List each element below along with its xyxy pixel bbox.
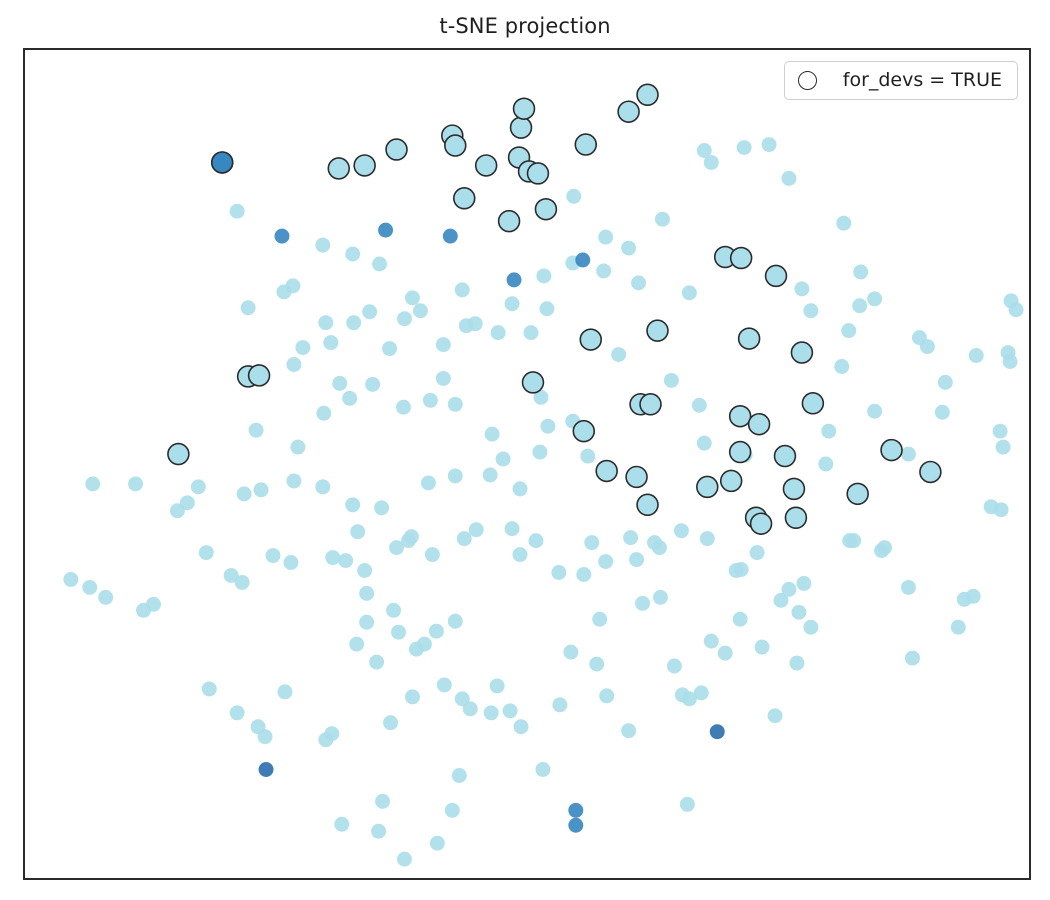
- scatter-point: [328, 158, 349, 179]
- scatter-point: [485, 427, 500, 442]
- scatter-point: [277, 684, 292, 699]
- scatter-point: [290, 440, 305, 455]
- scatter-point: [718, 646, 733, 661]
- scatter-point: [996, 440, 1011, 455]
- scatter-point: [469, 522, 484, 537]
- scatter-point: [697, 476, 718, 497]
- scatter-point: [969, 348, 984, 363]
- scatter-point: [697, 436, 712, 451]
- scatter-point: [599, 688, 614, 703]
- scatter-point: [796, 576, 811, 591]
- scatter-point: [484, 705, 499, 720]
- scatter-point: [338, 553, 353, 568]
- scatter-point: [647, 535, 662, 550]
- scatter-point: [503, 703, 518, 718]
- scatter-point: [637, 494, 658, 515]
- scatter-point: [653, 590, 668, 605]
- scatter-point: [682, 285, 697, 300]
- scatter-point: [397, 311, 412, 326]
- scatter-point: [527, 163, 548, 184]
- scatter-point: [524, 325, 539, 340]
- scatter-point: [374, 500, 389, 515]
- scatter-point: [382, 341, 397, 356]
- scatter-point: [496, 452, 511, 467]
- scatter-point: [598, 230, 613, 245]
- scatter-point: [401, 533, 416, 548]
- scatter-point: [455, 282, 470, 297]
- scatter-point: [535, 762, 550, 777]
- scatter-point: [202, 681, 217, 696]
- scatter-point: [551, 565, 566, 580]
- scatter-point: [405, 290, 420, 305]
- scatter-point: [168, 444, 189, 465]
- scatter-point: [436, 371, 451, 386]
- scatter-point: [901, 580, 916, 595]
- scatter-point: [584, 535, 599, 550]
- scatter-point: [751, 513, 772, 534]
- scatter-point: [781, 171, 796, 186]
- scatter-point: [505, 296, 520, 311]
- scatter-point: [580, 449, 595, 464]
- scatter-point: [920, 462, 941, 483]
- scatter-point: [791, 342, 812, 363]
- scatter-point: [846, 533, 861, 548]
- scatter-point: [637, 84, 658, 105]
- scatter-point: [847, 483, 868, 504]
- scatter-point: [82, 580, 97, 595]
- scatter-point: [286, 357, 301, 372]
- scatter-point: [596, 461, 617, 482]
- scatter-point: [425, 547, 440, 562]
- scatter-point: [901, 447, 916, 462]
- scatter-point: [532, 445, 547, 460]
- scatter-point: [359, 586, 374, 601]
- scatter-point: [818, 457, 833, 472]
- scatter-point: [528, 533, 543, 548]
- scatter-point: [655, 212, 670, 227]
- scatter-point: [448, 397, 463, 412]
- scatter-point: [881, 440, 902, 461]
- scatter-point: [315, 238, 330, 253]
- scatter-point: [674, 523, 689, 538]
- scatter-point: [445, 135, 466, 156]
- scatter-point: [170, 503, 185, 518]
- scatter-point: [611, 347, 626, 362]
- scatter-point: [867, 291, 882, 306]
- scatter-point: [249, 423, 264, 438]
- scatter-point: [365, 377, 380, 392]
- scatter-point: [755, 640, 770, 655]
- scatter-point: [775, 446, 796, 467]
- scatter-point: [369, 655, 384, 670]
- scatter-series: [63, 137, 1023, 866]
- scatter-point: [766, 265, 787, 286]
- scatter-point: [704, 634, 719, 649]
- scatter-point: [647, 320, 668, 341]
- scatter-point: [935, 405, 950, 420]
- scatter-point: [905, 651, 920, 666]
- scatter-point: [623, 530, 638, 545]
- scatter-point: [285, 278, 300, 293]
- scatter-point: [454, 188, 475, 209]
- scatter-point: [589, 657, 604, 672]
- scatter-point: [635, 596, 650, 611]
- scatter-point: [710, 724, 725, 739]
- scatter-point: [938, 375, 953, 390]
- scatter-point: [774, 593, 789, 608]
- scatter-point: [241, 300, 256, 315]
- scatter-point: [346, 315, 361, 330]
- scatter-point: [729, 563, 744, 578]
- scatter-point: [490, 678, 505, 693]
- scatter-point: [700, 531, 715, 546]
- scatter-point: [199, 545, 214, 560]
- scatter-point: [350, 524, 365, 539]
- scatter-point: [867, 404, 882, 419]
- scatter-point: [631, 275, 646, 290]
- scatter-point: [629, 552, 644, 567]
- scatter-point: [750, 545, 765, 560]
- scatter-series: [212, 152, 233, 173]
- scatter-point: [513, 481, 528, 496]
- scatter-point: [323, 335, 338, 350]
- scatter-point: [98, 590, 113, 605]
- scatter-point: [235, 575, 250, 590]
- scatter-point: [621, 241, 636, 256]
- scatter-point: [1009, 302, 1024, 317]
- scatter-point: [483, 467, 498, 482]
- scatter-point: [802, 393, 823, 414]
- scatter-point: [576, 567, 591, 582]
- scatter-point: [836, 216, 851, 231]
- scatter-point: [966, 589, 981, 604]
- scatter-point: [378, 223, 393, 238]
- scatter-point: [794, 281, 809, 296]
- scatter-point: [318, 315, 333, 330]
- scatter-point: [345, 497, 360, 512]
- scatter-point: [505, 521, 520, 536]
- scatter-point: [523, 372, 544, 393]
- scatter-point: [803, 620, 818, 635]
- scatter-point: [731, 248, 752, 269]
- scatter-point: [749, 414, 770, 435]
- scatter-point: [476, 155, 497, 176]
- scatter-point: [437, 677, 452, 692]
- scatter-point: [249, 365, 270, 386]
- scatter-point: [573, 421, 594, 442]
- scatter-point: [463, 701, 478, 716]
- scatter-point: [372, 257, 387, 272]
- plot-area[interactable]: for_devs = TRUE: [23, 48, 1031, 880]
- scatter-point: [491, 325, 506, 340]
- scatter-point: [535, 199, 556, 220]
- scatter-point: [694, 685, 709, 700]
- scatter-point: [448, 468, 463, 483]
- scatter-point: [396, 400, 411, 415]
- scatter-point: [568, 803, 583, 818]
- scatter-point: [230, 705, 245, 720]
- scatter-point: [739, 328, 760, 349]
- scatter-point: [566, 189, 581, 204]
- scatter-point: [357, 563, 372, 578]
- scatter-point: [536, 268, 551, 283]
- scatter-point: [853, 264, 868, 279]
- scatter-point: [621, 723, 636, 738]
- scatter-point: [452, 768, 467, 783]
- scatter-point: [511, 117, 532, 138]
- scatter-point: [575, 253, 590, 268]
- scatter-point: [212, 152, 233, 173]
- scatter-point: [692, 398, 707, 413]
- scatter-point: [266, 548, 281, 563]
- figure-canvas: t-SNE projection for_devs = TRUE: [0, 0, 1050, 900]
- scatter-point: [362, 304, 377, 319]
- scatter-point: [345, 247, 360, 262]
- scatter-point: [316, 406, 331, 421]
- scatter-point: [791, 605, 806, 620]
- scatter-point: [286, 473, 301, 488]
- scatter-point: [386, 139, 407, 160]
- scatter-point: [552, 697, 567, 712]
- scatter-point: [877, 540, 892, 555]
- scatter-point: [592, 612, 607, 627]
- scatter-point: [852, 298, 867, 313]
- scatter-point: [258, 729, 273, 744]
- scatter-point: [359, 615, 374, 630]
- scatter-point: [386, 603, 401, 618]
- scatter-point: [468, 316, 483, 331]
- scatter-point: [507, 272, 522, 287]
- scatter-point: [334, 817, 349, 832]
- page-title: t-SNE projection: [0, 14, 1050, 38]
- scatter-point: [737, 140, 752, 155]
- scatter-point: [383, 715, 398, 730]
- scatter-point: [430, 836, 445, 851]
- scatter-point: [575, 134, 596, 155]
- legend-entry-label: for_devs = TRUE: [843, 71, 1002, 90]
- scatter-point: [283, 555, 298, 570]
- scatter-point: [762, 137, 777, 152]
- scatter-point: [730, 442, 751, 463]
- scatter-point: [295, 340, 310, 355]
- scatter-point: [514, 719, 529, 734]
- scatter-point: [325, 550, 340, 565]
- scatter-point: [730, 406, 751, 427]
- scatter-point: [254, 482, 269, 497]
- scatter-point: [259, 762, 274, 777]
- scatter-point: [841, 323, 856, 338]
- scatter-point: [421, 475, 436, 490]
- scatter-point: [436, 337, 451, 352]
- scatter-point: [539, 301, 554, 316]
- scatter-point: [733, 612, 748, 627]
- scatter-point: [618, 101, 639, 122]
- scatter-point: [429, 624, 444, 639]
- scatter-point: [315, 479, 330, 494]
- scatter-point: [993, 424, 1008, 439]
- scatter-point: [721, 470, 742, 491]
- scatter-points-layer: [25, 50, 1029, 878]
- scatter-point: [951, 620, 966, 635]
- scatter-point: [349, 637, 364, 652]
- scatter-point: [499, 211, 520, 232]
- scatter-point: [146, 597, 161, 612]
- scatter-point: [680, 797, 695, 812]
- scatter-point: [994, 502, 1009, 517]
- scatter-point: [230, 204, 245, 219]
- scatter-point: [803, 303, 818, 318]
- scatter-point: [513, 547, 528, 562]
- scatter-point: [332, 376, 347, 391]
- scatter-point: [640, 394, 661, 415]
- scatter-point: [626, 466, 647, 487]
- scatter-point: [423, 393, 438, 408]
- scatter-point: [834, 359, 849, 374]
- scatter-point: [704, 155, 719, 170]
- scatter-point: [598, 554, 613, 569]
- scatter-point: [664, 373, 679, 388]
- scatter-point: [580, 329, 601, 350]
- scatter-point: [514, 98, 535, 119]
- circle-open-icon: [798, 71, 817, 90]
- scatter-point: [596, 263, 611, 278]
- scatter-point: [371, 824, 386, 839]
- scatter-point: [667, 659, 682, 674]
- legend[interactable]: for_devs = TRUE: [784, 61, 1018, 100]
- scatter-point: [354, 155, 375, 176]
- scatter-point: [375, 794, 390, 809]
- scatter-point: [785, 507, 806, 528]
- scatter-point: [405, 689, 420, 704]
- scatter-point: [342, 391, 357, 406]
- scatter-point: [540, 419, 555, 434]
- scatter-point: [237, 486, 252, 501]
- scatter-point: [128, 476, 143, 491]
- scatter-point: [191, 479, 206, 494]
- scatter-point: [413, 303, 428, 318]
- scatter-point: [920, 339, 935, 354]
- scatter-point: [768, 708, 783, 723]
- scatter-point: [1003, 354, 1018, 369]
- scatter-point: [457, 531, 472, 546]
- scatter-point: [275, 229, 290, 244]
- scatter-point: [445, 803, 460, 818]
- scatter-point: [417, 637, 432, 652]
- scatter-point: [324, 726, 339, 741]
- scatter-point: [563, 645, 578, 660]
- scatter-point: [391, 625, 406, 640]
- scatter-point: [397, 852, 412, 867]
- scatter-point: [63, 572, 78, 587]
- scatter-point: [443, 229, 458, 244]
- scatter-point: [448, 614, 463, 629]
- scatter-point: [821, 424, 836, 439]
- scatter-point: [789, 656, 804, 671]
- scatter-point: [568, 818, 583, 833]
- scatter-point: [783, 478, 804, 499]
- scatter-point: [85, 476, 100, 491]
